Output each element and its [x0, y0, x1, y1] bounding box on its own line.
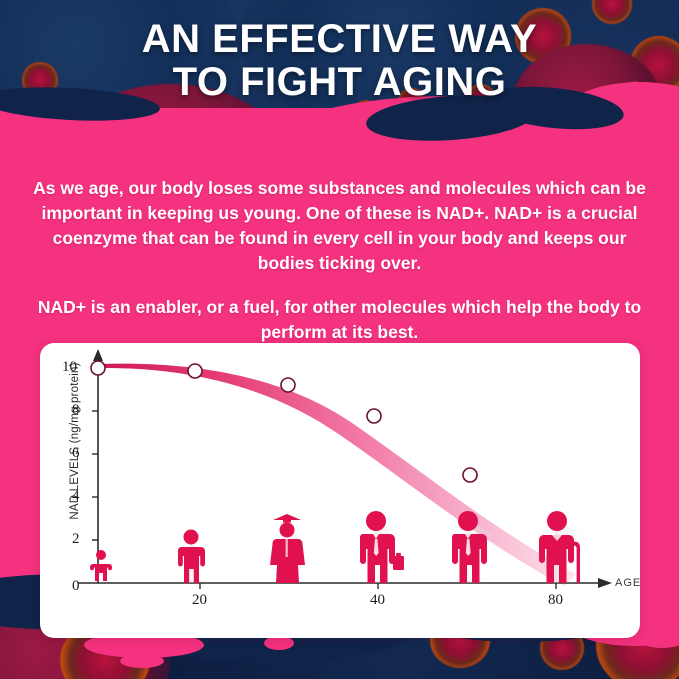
- x-tick-label: 40: [370, 592, 385, 609]
- y-tick-label: 0: [72, 578, 80, 595]
- baby-figure: [90, 550, 112, 581]
- poster-root: AN EFFECTIVE WAY TO FIGHT AGING As we ag…: [0, 0, 679, 679]
- body-paragraph-2: NAD+ is an enabler, or a fuel, for other…: [30, 295, 649, 345]
- y-tick-label: 6: [72, 445, 80, 462]
- pink-splat-bottom: [264, 636, 294, 650]
- y-tick-label: 4: [72, 488, 80, 505]
- y-tick-label: 2: [72, 531, 80, 548]
- page-title: AN EFFECTIVE WAY TO FIGHT AGING: [0, 18, 679, 104]
- businessman-figure: [360, 511, 404, 583]
- x-axis-arrow-icon: [598, 578, 612, 588]
- chart-card: NAD LEVELS (ng/mg protein) 10 8 6 4 2 0 …: [40, 343, 640, 638]
- pink-splat-bottom: [120, 654, 164, 668]
- x-tick-label: 80: [548, 592, 563, 609]
- data-point-marker[interactable]: [281, 378, 295, 392]
- y-tick-label: 8: [72, 402, 80, 419]
- x-axis-title: AGE: [615, 577, 640, 589]
- data-point-marker[interactable]: [188, 364, 202, 378]
- headline-line-2: TO FIGHT AGING: [0, 61, 679, 104]
- headline-line-1: AN EFFECTIVE WAY: [142, 17, 537, 61]
- child-figure: [178, 530, 208, 584]
- y-tick-label: 10: [62, 359, 77, 376]
- nad-decline-band: [98, 364, 576, 586]
- body-copy: As we age, our body loses some substance…: [30, 176, 649, 345]
- data-point-marker[interactable]: [463, 468, 477, 482]
- graduate-figure: [270, 514, 308, 583]
- y-axis-arrow-icon: [93, 349, 103, 361]
- data-point-marker[interactable]: [367, 409, 381, 423]
- x-tick-label: 20: [192, 592, 207, 609]
- body-paragraph-1: As we age, our body loses some substance…: [30, 176, 649, 275]
- data-point-marker[interactable]: [91, 361, 105, 375]
